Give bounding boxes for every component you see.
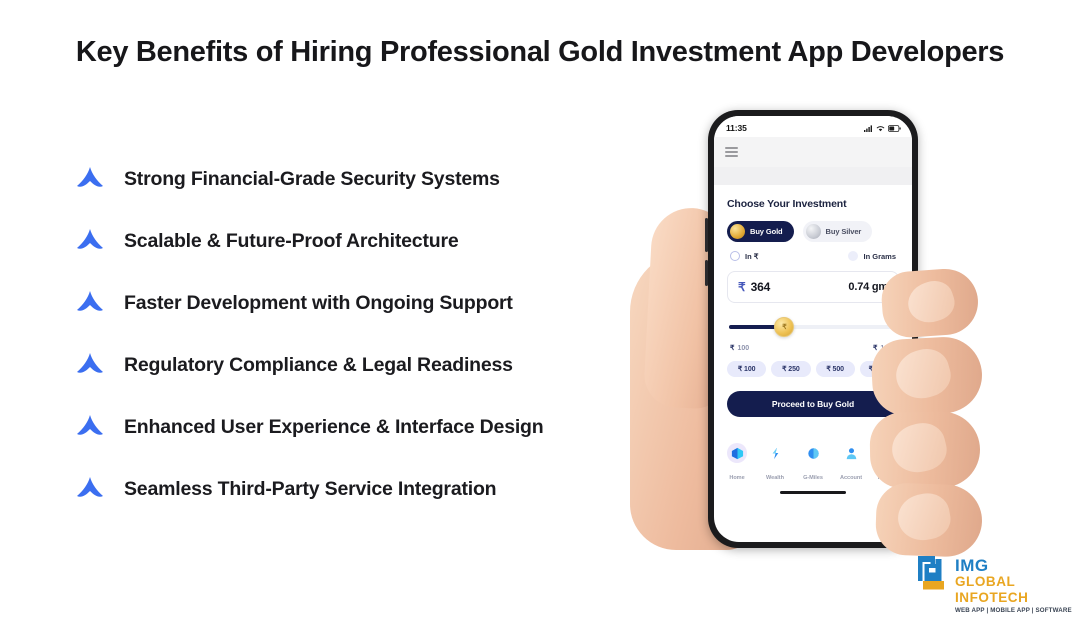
- silver-coin-icon: [806, 224, 821, 239]
- list-item-label: Enhanced User Experience & Interface Des…: [124, 416, 543, 439]
- page-title: Key Benefits of Hiring Professional Gold…: [0, 36, 1080, 69]
- quick-amount-label: 100: [744, 366, 755, 373]
- status-bar-icons: [864, 125, 901, 132]
- metal-toggle-group: Buy Gold Buy Silver: [727, 221, 899, 242]
- slider-range-labels: ₹ 100 ₹ 1000: [727, 344, 899, 352]
- nav-item-wealth[interactable]: Wealth: [757, 443, 793, 484]
- buy-gold-tab[interactable]: Buy Gold: [727, 221, 794, 242]
- arrow-up-marker-icon: [68, 224, 112, 258]
- status-bar: 11:35: [714, 116, 912, 137]
- hamburger-menu-icon[interactable]: [725, 147, 738, 156]
- list-item: Faster Development with Ongoing Support: [68, 272, 668, 334]
- gold-coin-icon: [730, 224, 745, 239]
- nav-label: G-Miles: [803, 475, 823, 481]
- arrow-up-marker-icon: [68, 162, 112, 196]
- g-miles-icon: [803, 443, 823, 463]
- quick-amount-chip[interactable]: ₹ 250: [771, 361, 810, 377]
- nav-label: Home: [729, 475, 744, 481]
- benefits-list: Strong Financial-Grade Security Systems …: [68, 148, 668, 520]
- rupee-symbol-icon: ₹: [782, 366, 786, 373]
- list-item-label: Regulatory Compliance & Legal Readiness: [124, 354, 513, 377]
- gold-coin-thumb-icon[interactable]: ₹: [774, 317, 794, 337]
- logo-name: IMG: [955, 557, 1080, 574]
- nav-item-g-miles[interactable]: G-Miles: [795, 443, 831, 484]
- cellular-signal-icon: [864, 125, 873, 132]
- logo-tagline: WEB APP | MOBILE APP | SOFTWARE: [955, 607, 1080, 614]
- home-indicator: [780, 491, 846, 494]
- app-header: [714, 137, 912, 167]
- list-item: Strong Financial-Grade Security Systems: [68, 148, 668, 210]
- nav-item-home[interactable]: Home: [719, 443, 755, 484]
- home-icon: [727, 443, 747, 463]
- unit-option-rupee-label: In ₹: [745, 252, 759, 261]
- rupee-symbol-icon: ₹: [738, 280, 746, 294]
- arrow-up-marker-icon: [68, 286, 112, 320]
- rupee-symbol-icon: ₹: [873, 344, 877, 352]
- quick-amount-label: 250: [788, 366, 799, 373]
- buy-silver-label: Buy Silver: [826, 227, 862, 236]
- wifi-icon: [876, 125, 885, 132]
- quick-amount-label: 500: [833, 366, 844, 373]
- nav-label: Account: [840, 475, 862, 481]
- amount-slider[interactable]: ₹: [729, 317, 897, 337]
- unit-option-grams-label: In Grams: [863, 252, 896, 261]
- buy-silver-tab[interactable]: Buy Silver: [803, 221, 873, 242]
- unit-option-group: In ₹ In Grams: [727, 251, 899, 261]
- nav-label: Wealth: [766, 475, 784, 481]
- card-heading: Choose Your Investment: [727, 198, 899, 210]
- hand-holding-phone-photo: 11:35 Choose Your Investment: [620, 100, 1020, 570]
- list-item: Seamless Third-Party Service Integration: [68, 458, 668, 520]
- amount-value: 364: [751, 280, 770, 294]
- amount-value-group: ₹ 364: [738, 280, 770, 294]
- radio-unselected-icon: [848, 251, 858, 261]
- slider-min-value: 100: [737, 345, 749, 352]
- company-logo: IMG GLOBAL INFOTECH WEB APP | MOBILE APP…: [918, 556, 1080, 614]
- unit-option-rupee[interactable]: In ₹: [730, 251, 759, 261]
- rupee-symbol-icon: ₹: [826, 366, 830, 373]
- arrow-up-marker-icon: [68, 348, 112, 382]
- rupee-symbol-icon: ₹: [730, 344, 734, 352]
- status-bar-time: 11:35: [726, 123, 747, 133]
- list-item: Enhanced User Experience & Interface Des…: [68, 396, 668, 458]
- unit-option-grams[interactable]: In Grams: [848, 251, 896, 261]
- list-item-label: Seamless Third-Party Service Integration: [124, 478, 496, 501]
- volume-button: [705, 218, 708, 252]
- list-item-label: Faster Development with Ongoing Support: [124, 292, 513, 315]
- wealth-icon: [765, 443, 785, 463]
- rupee-symbol-icon: ₹: [738, 366, 742, 373]
- header-spacer: [714, 167, 912, 185]
- quick-amount-chip[interactable]: ₹ 100: [727, 361, 766, 377]
- volume-button: [705, 260, 708, 286]
- slide-root: Key Benefits of Hiring Professional Gold…: [0, 0, 1080, 617]
- battery-icon: [888, 125, 901, 132]
- logo-wordmark: IMG GLOBAL INFOTECH WEB APP | MOBILE APP…: [955, 556, 1080, 614]
- slider-min-label: ₹ 100: [730, 344, 749, 352]
- list-item: Scalable & Future-Proof Architecture: [68, 210, 668, 272]
- proceed-to-buy-gold-button[interactable]: Proceed to Buy Gold: [727, 391, 899, 417]
- arrow-up-marker-icon: [68, 410, 112, 444]
- radio-selected-icon: [730, 251, 740, 261]
- nav-item-account[interactable]: Account: [833, 443, 869, 484]
- buy-gold-label: Buy Gold: [750, 227, 783, 236]
- arrow-up-marker-icon: [68, 472, 112, 506]
- logo-subtitle: GLOBAL INFOTECH: [955, 574, 1080, 605]
- list-item-label: Scalable & Future-Proof Architecture: [124, 230, 458, 253]
- account-icon: [841, 443, 861, 463]
- quick-amount-chip[interactable]: ₹ 500: [816, 361, 855, 377]
- list-item: Regulatory Compliance & Legal Readiness: [68, 334, 668, 396]
- img-global-infotech-logo-mark: [918, 556, 948, 592]
- list-item-label: Strong Financial-Grade Security Systems: [124, 168, 500, 191]
- amount-input-row[interactable]: ₹ 364 0.74 gm: [727, 271, 899, 303]
